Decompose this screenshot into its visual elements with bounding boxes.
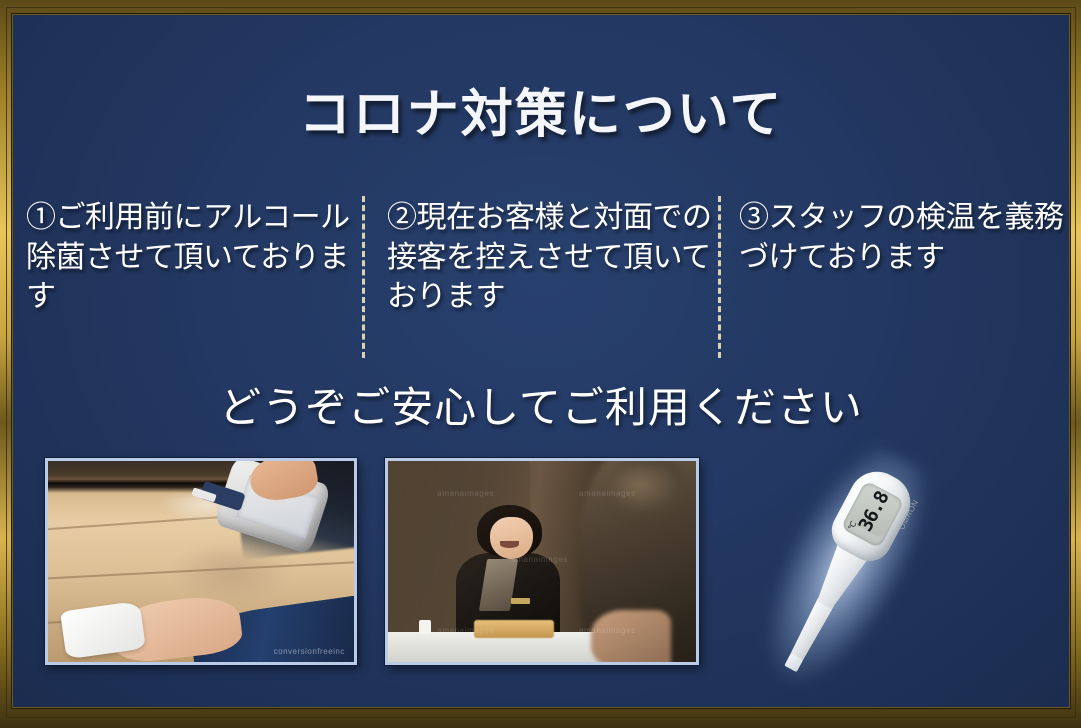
thermometer-area: OMRON 36.8 ℃	[772, 446, 1052, 686]
slide-frame: コロナ対策について ①ご利用前にアルコール除菌させて頂いております ②現在お客様…	[0, 0, 1081, 728]
wet-sheen	[170, 541, 292, 601]
photo-watermark: amanaimages	[579, 489, 636, 498]
measure-item-3: ③スタッフの検温を義務づけております	[721, 192, 1070, 277]
photo-watermark: amanaimages	[437, 626, 494, 635]
staff-face	[490, 517, 533, 559]
thermometer-reading: 36.8	[854, 488, 893, 535]
measures-row: ①ご利用前にアルコール除菌させて頂いております ②現在お客様と対面での接客を控え…	[12, 192, 1070, 362]
column-divider-2	[718, 196, 721, 358]
photo-row: conversionfreeinc amanaimages amanai	[12, 446, 1070, 686]
measure-item-2: ②現在お客様と対面での接客を控えさせて頂いております	[365, 192, 718, 317]
thermometer-lcd: 36.8	[848, 485, 900, 538]
page-title: コロナ対策について	[12, 87, 1070, 144]
photo-watermark: amanaimages	[579, 626, 636, 635]
staff-name-badge	[511, 598, 529, 604]
photo-watermark: amanaimages	[437, 489, 494, 498]
measure-item-1: ①ご利用前にアルコール除菌させて頂いております	[12, 192, 362, 317]
reassurance-tagline: どうぞご安心してご利用ください	[12, 374, 1070, 435]
customer-head	[610, 458, 684, 515]
photo-sanitizing-table: conversionfreeinc	[45, 458, 357, 665]
column-divider-1	[362, 196, 365, 358]
photo-reception-staff: amanaimages amanaimages amanaimages aman…	[385, 458, 699, 665]
counter-cup	[419, 620, 431, 634]
slide-content-area: コロナ対策について ①ご利用前にアルコール除菌させて頂いております ②現在お客様…	[12, 14, 1070, 708]
digital-thermometer-icon: OMRON 36.8 ℃	[766, 462, 920, 678]
customer-arm	[591, 610, 671, 665]
photo-watermark: amanaimages	[511, 555, 568, 564]
photo-watermark: conversionfreeinc	[274, 647, 345, 656]
